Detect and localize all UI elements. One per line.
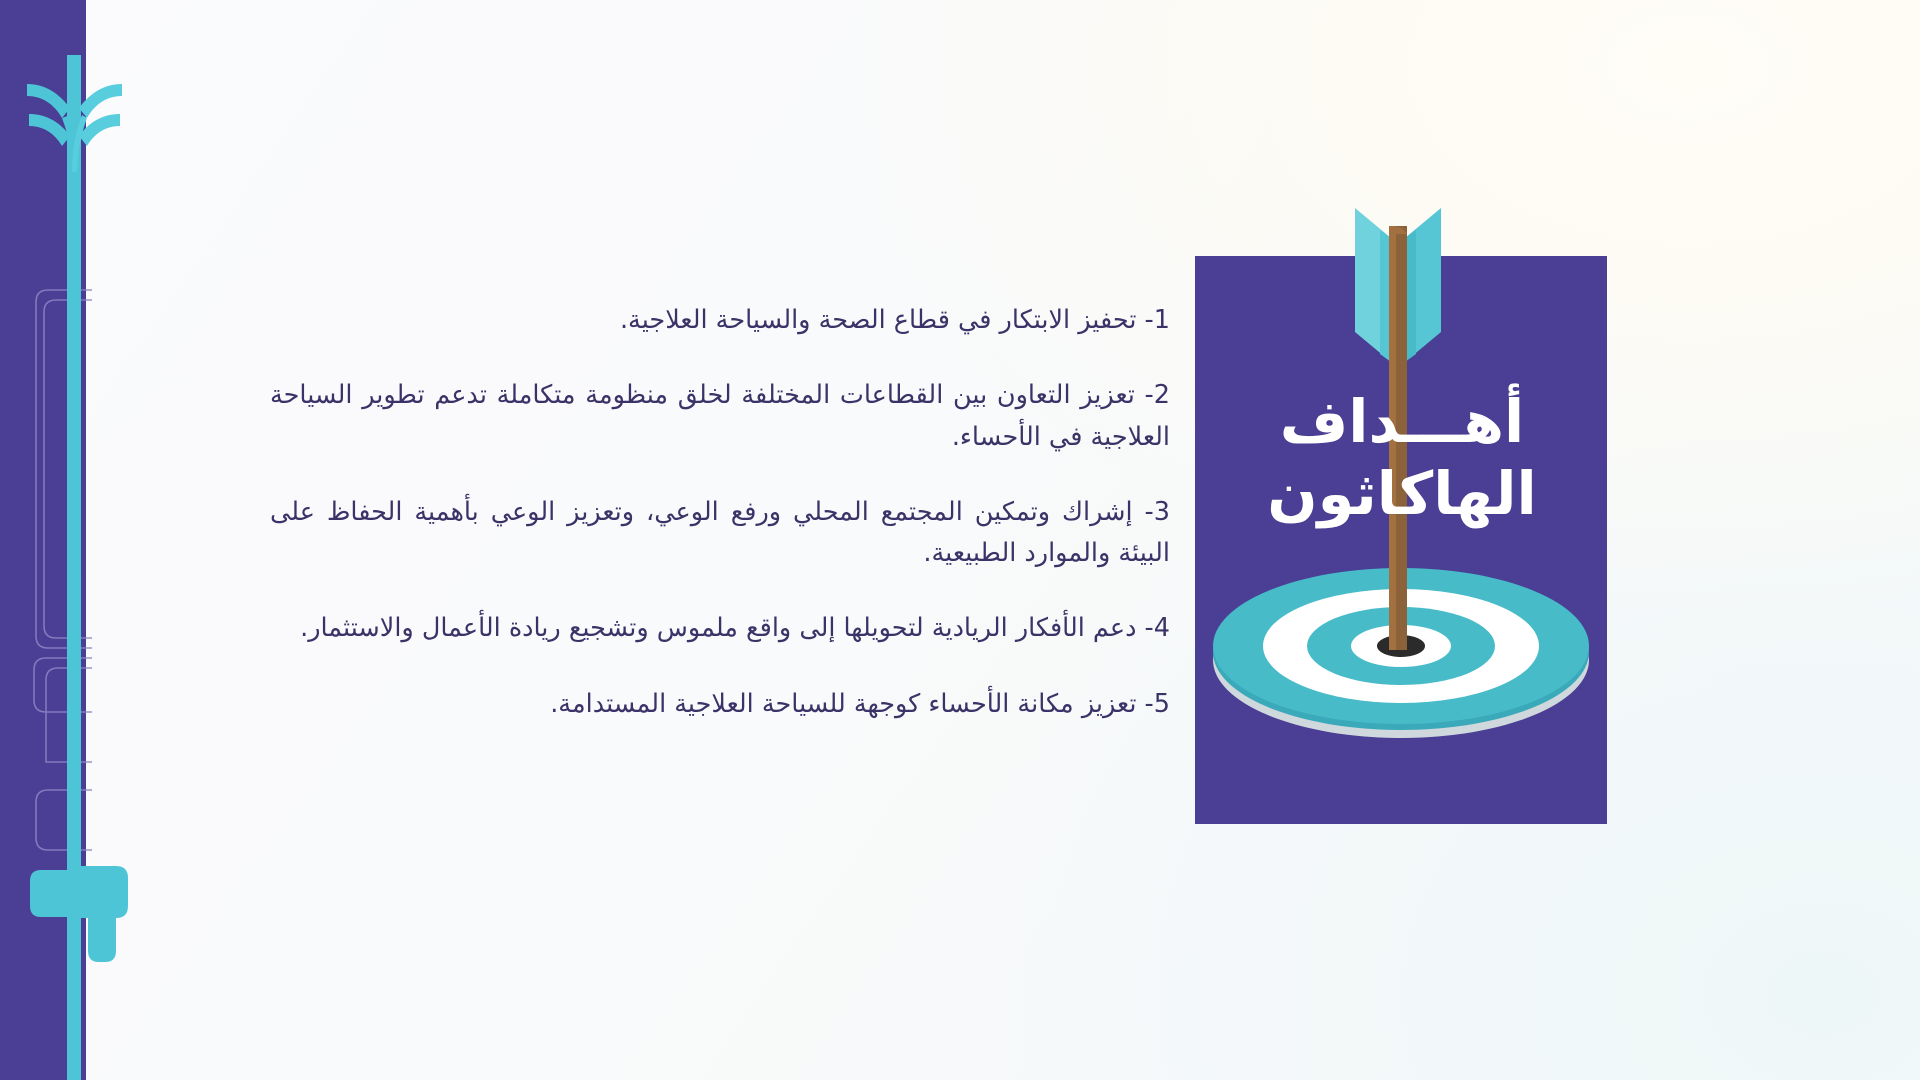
slide-root: 1- تحفيز الابتكار في قطاع الصحة والسياحة…: [0, 0, 1920, 1080]
goals-list: 1- تحفيز الابتكار في قطاع الصحة والسياحة…: [270, 300, 1170, 725]
list-item: 3- إشراك وتمكين المجتمع المحلي ورفع الوع…: [270, 492, 1170, 575]
left-decoration: [0, 0, 140, 1080]
goals-card-panel: [1195, 256, 1607, 824]
list-item: 5- تعزيز مكانة الأحساء كوجهة للسياحة الع…: [270, 684, 1170, 725]
list-item: 2- تعزيز التعاون بين القطاعات المختلفة ل…: [270, 375, 1170, 458]
palm-tree-icon: [0, 0, 160, 1080]
list-item: 4- دعم الأفكار الريادية لتحويلها إلى واق…: [270, 608, 1170, 649]
page-title: أهـــداف الهاكاثون: [1210, 386, 1594, 530]
card-title-line-2: الهاكاثون: [1210, 458, 1594, 530]
card-title-line-1: أهـــداف: [1280, 387, 1524, 456]
list-item: 1- تحفيز الابتكار في قطاع الصحة والسياحة…: [270, 300, 1170, 341]
